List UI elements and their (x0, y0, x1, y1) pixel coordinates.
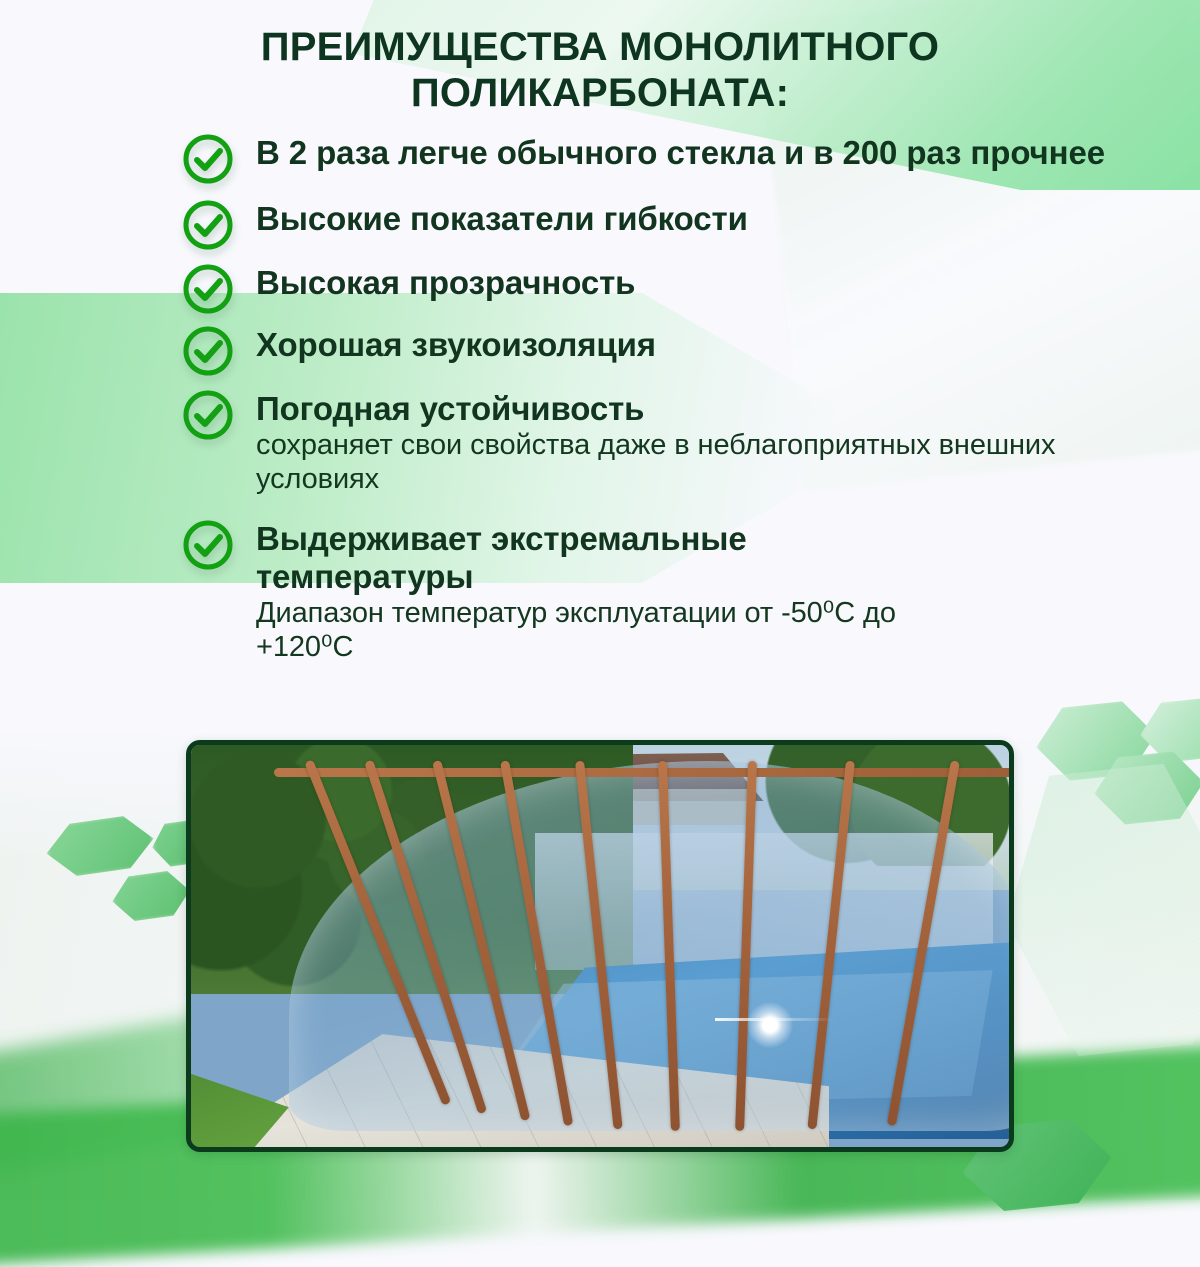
list-item: Высокие показатели гибкости (182, 199, 1142, 251)
list-item-lead: Погодная устойчивость (256, 390, 1142, 428)
list-item-lead: Выдерживает экстремальные температуры (256, 520, 934, 597)
dome-rail-top (274, 768, 1014, 777)
dome-rib (735, 761, 757, 1131)
list-item-lead: Хорошая звукоизоляция (256, 326, 656, 363)
check-circle-icon (182, 519, 234, 571)
list-item: Высокая прозрачность (182, 263, 1142, 315)
list-item-lead: Высокие показатели гибкости (256, 200, 748, 237)
dome-rib (658, 761, 680, 1131)
check-circle-icon (182, 133, 234, 185)
list-item-sub: сохраняет свои свойства даже в неблагопр… (256, 428, 1142, 496)
photo-content (191, 745, 1009, 1147)
list-item: Погодная устойчивость сохраняет свои сво… (182, 389, 1142, 497)
page-title: ПРЕИМУЩЕСТВА МОНОЛИТНОГО ПОЛИКАРБОНАТА: (120, 24, 1080, 117)
list-item: Хорошая звукоизоляция (182, 325, 1142, 377)
check-circle-icon (182, 325, 234, 377)
check-circle-icon (182, 389, 234, 441)
photo-sun-ray (715, 1018, 835, 1021)
dome-rib (887, 760, 960, 1126)
pool-pavilion-photo (186, 740, 1014, 1152)
dome-rib (575, 761, 623, 1130)
list-item: В 2 раза легче обычного стекла и в 200 р… (182, 133, 1142, 185)
page-title-line-1: ПРЕИМУЩЕСТВА МОНОЛИТНОГО (120, 24, 1080, 70)
check-circle-icon (182, 199, 234, 251)
list-item-lead: Высокая прозрачность (256, 264, 635, 301)
advantages-list: В 2 раза легче обычного стекла и в 200 р… (182, 133, 1142, 665)
page-title-line-2: ПОЛИКАРБОНАТА: (120, 70, 1080, 116)
dome-rib (807, 761, 855, 1130)
list-item-lead: В 2 раза легче обычного стекла и в 200 р… (256, 134, 1105, 171)
check-circle-icon (182, 263, 234, 315)
list-item-sub: Диапазон температур эксплуатации от -50⁰… (256, 596, 934, 664)
list-item: Выдерживает экстремальные температуры Ди… (182, 519, 1142, 665)
